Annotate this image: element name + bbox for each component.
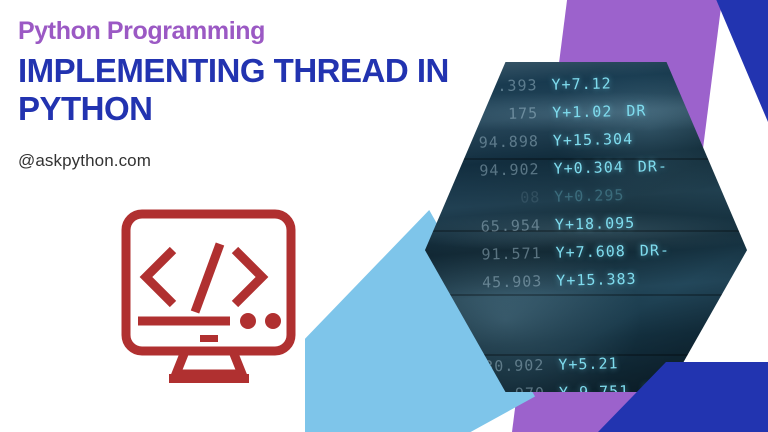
photo-code-col1: 91.571 [433, 244, 541, 265]
photo-code-col2: Y-9.751 [559, 382, 630, 392]
photo-code-col2: Y+0.304 [553, 158, 624, 178]
headline-text-block: Python Programming IMPLEMENTING THREAD I… [18, 18, 468, 171]
right-angle-bracket-icon [235, 250, 262, 304]
monitor-stand-icon [176, 354, 242, 374]
dot-icon [240, 313, 256, 329]
photo-code-col2: Y+7.12 [551, 74, 612, 93]
slash-icon [195, 244, 220, 312]
photo-code-col3: DR- [638, 157, 669, 176]
photo-code-col2: Y+7.608 [555, 242, 626, 262]
site-byline: @askpython.com [18, 151, 468, 171]
photo-code-col2: Y+15.383 [556, 270, 637, 290]
photo-code-col2: Y+15.304 [553, 130, 634, 150]
code-monitor-icon [118, 208, 308, 390]
photo-code-col1: 45.903 [434, 272, 542, 293]
category-kicker: Python Programming [18, 18, 468, 46]
photo-code-col3: DR [626, 101, 646, 119]
photo-code-col2: Y+0.295 [554, 186, 625, 206]
photo-code-col2: Y+18.095 [555, 214, 636, 234]
photo-code-col1: 65.954 [433, 216, 541, 237]
page-title: IMPLEMENTING THREAD IN PYTHON [18, 52, 468, 130]
dash-icon [200, 335, 218, 342]
photo-code-col2: Y+1.02 [552, 102, 613, 121]
photo-code-col1: 08 [432, 188, 540, 209]
monitor-base-icon [169, 374, 249, 383]
python-article-banner: 147.393Y+7.12175Y+1.02DR94.898Y+15.30494… [0, 0, 768, 432]
dot-icon [265, 313, 281, 329]
left-angle-bracket-icon [146, 250, 173, 304]
photo-code-col3: DR- [640, 241, 671, 260]
photo-code-col2: Y+5.21 [558, 354, 619, 373]
